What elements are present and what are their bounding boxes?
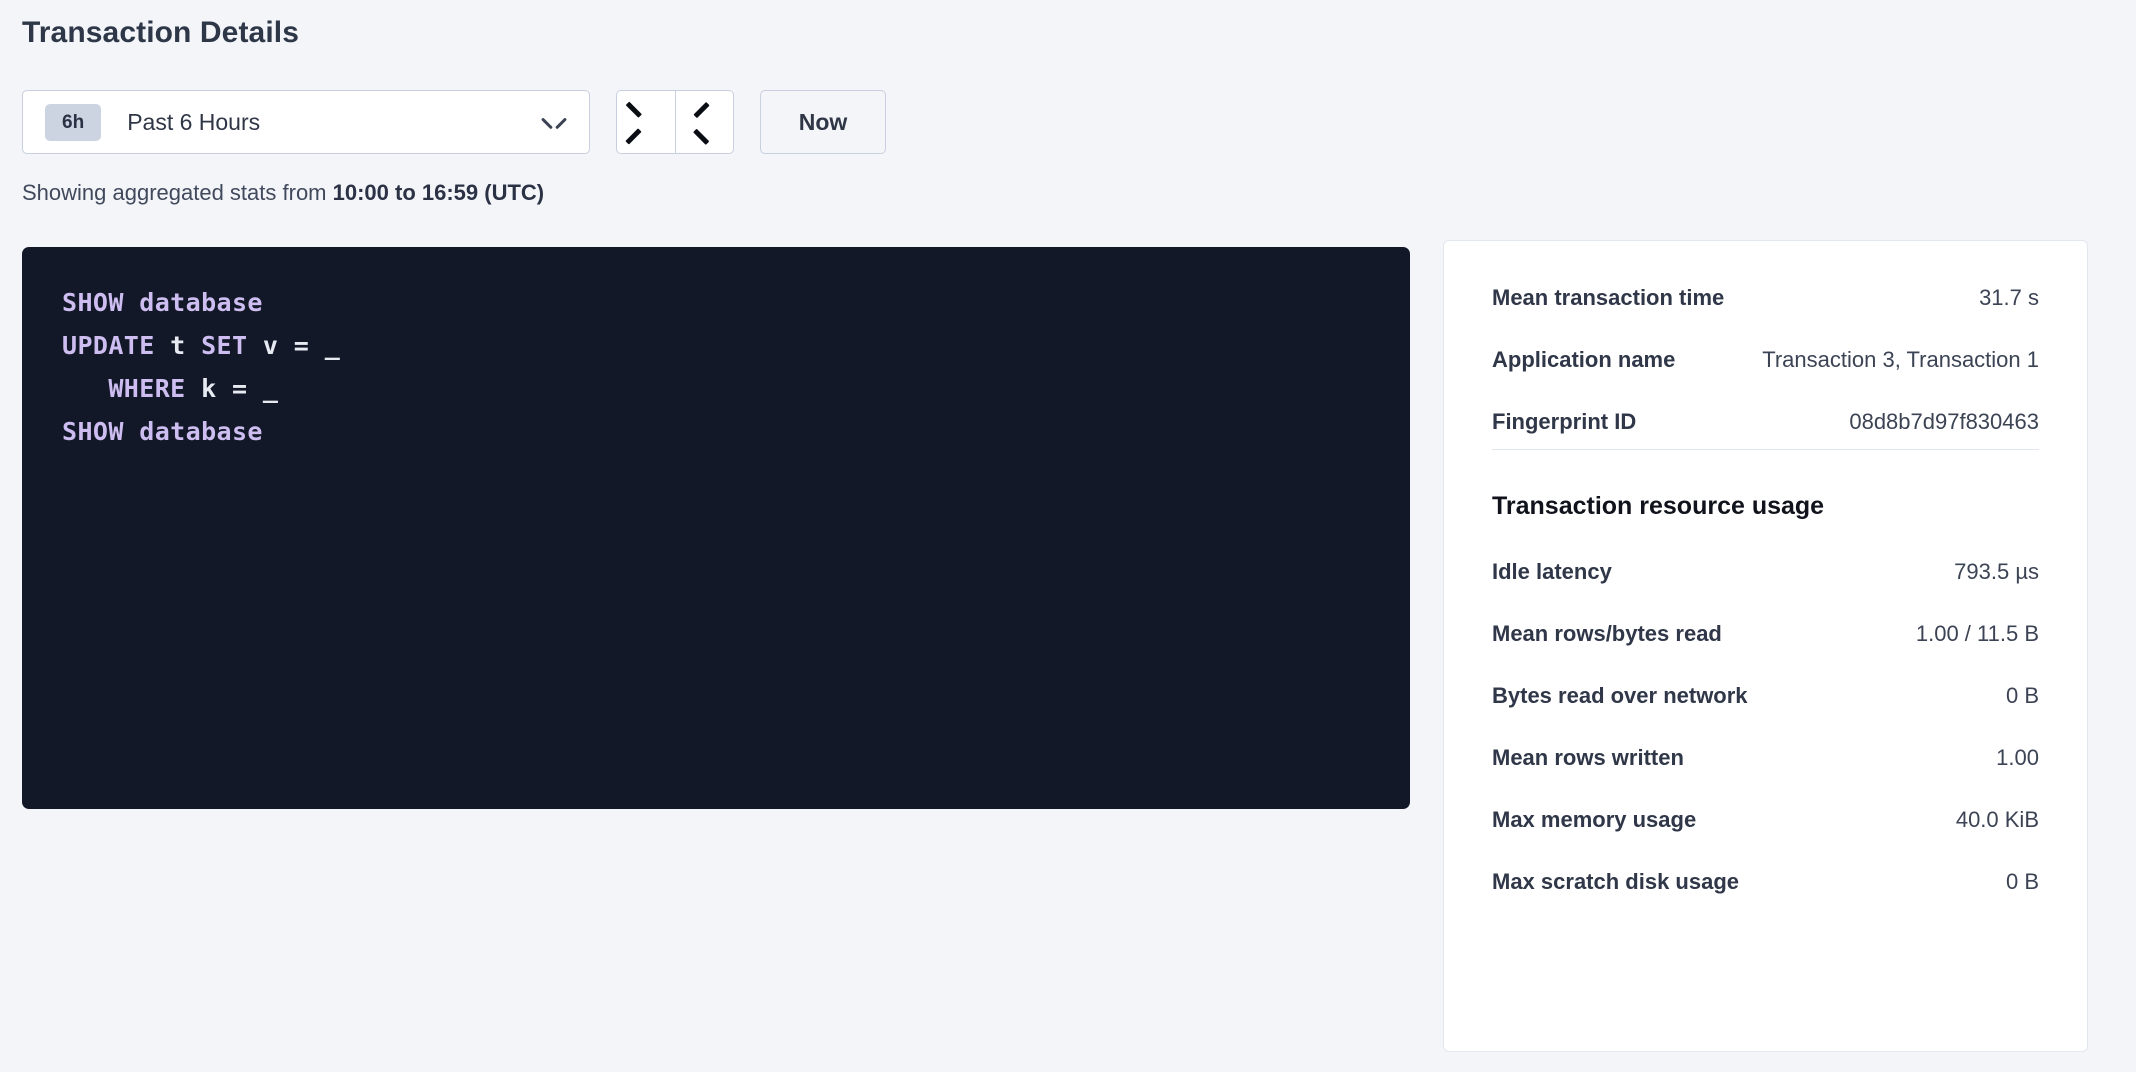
transaction-details-card: Mean transaction time31.7 sApplication n… bbox=[1443, 240, 2088, 1052]
sql-code-body: SHOW databaseUPDATE t SET v = _ WHERE k … bbox=[62, 281, 1370, 453]
time-range-label: Past 6 Hours bbox=[127, 109, 543, 136]
time-range-select[interactable]: 6h Past 6 Hours bbox=[22, 90, 590, 154]
stat-value: 0 B bbox=[2006, 683, 2039, 709]
stat-label: Max scratch disk usage bbox=[1492, 869, 1739, 895]
aggregation-range-text: Showing aggregated stats from 10:00 to 1… bbox=[22, 180, 544, 206]
sql-code-line: SHOW database bbox=[62, 281, 1370, 324]
stat-row: Mean rows written1.00 bbox=[1492, 745, 2039, 771]
stat-row: Max memory usage40.0 KiB bbox=[1492, 807, 2039, 833]
stat-label: Fingerprint ID bbox=[1492, 409, 1636, 435]
sql-code-line: WHERE k = _ bbox=[62, 367, 1370, 410]
stat-value: 31.7 s bbox=[1979, 285, 2039, 311]
stat-row: Mean transaction time31.7 s bbox=[1492, 285, 2039, 311]
stat-value: 1.00 / 11.5 B bbox=[1916, 621, 2039, 647]
sql-keyword: WHERE bbox=[62, 374, 186, 403]
transaction-details-page: Transaction Details 6h Past 6 Hours Now … bbox=[0, 0, 2136, 1072]
stat-label: Application name bbox=[1492, 347, 1675, 373]
stat-value: 40.0 KiB bbox=[1956, 807, 2039, 833]
resource-usage-list: Idle latency793.5 µsMean rows/bytes read… bbox=[1492, 559, 2039, 895]
stat-value: 0 B bbox=[2006, 869, 2039, 895]
sql-keyword: SHOW bbox=[62, 417, 124, 446]
stat-label: Mean transaction time bbox=[1492, 285, 1724, 311]
stat-label: Mean rows/bytes read bbox=[1492, 621, 1722, 647]
sql-keyword: UPDATE bbox=[62, 331, 155, 360]
sql-keyword: SET bbox=[201, 331, 247, 360]
chevron-left-icon bbox=[638, 108, 655, 137]
sql-text: v = _ bbox=[247, 331, 340, 360]
card-divider bbox=[1492, 449, 2039, 450]
next-period-button[interactable] bbox=[675, 90, 734, 154]
previous-period-button[interactable] bbox=[616, 90, 675, 154]
stat-label: Bytes read over network bbox=[1492, 683, 1748, 709]
chevron-down-icon bbox=[543, 116, 565, 129]
stat-value: 08d8b7d97f830463 bbox=[1849, 409, 2039, 435]
stat-row: Fingerprint ID08d8b7d97f830463 bbox=[1492, 409, 2039, 435]
stat-row: Idle latency793.5 µs bbox=[1492, 559, 2039, 585]
sql-code-panel: SHOW databaseUPDATE t SET v = _ WHERE k … bbox=[22, 247, 1410, 809]
stat-value: Transaction 3, Transaction 1 bbox=[1762, 347, 2039, 373]
time-range-badge: 6h bbox=[45, 104, 101, 141]
sql-text: k = _ bbox=[186, 374, 279, 403]
sql-keyword: database bbox=[124, 417, 263, 446]
stat-label: Max memory usage bbox=[1492, 807, 1696, 833]
stat-row: Bytes read over network0 B bbox=[1492, 683, 2039, 709]
resource-usage-heading: Transaction resource usage bbox=[1492, 492, 2039, 521]
stat-row: Application nameTransaction 3, Transacti… bbox=[1492, 347, 2039, 373]
sql-code-line: UPDATE t SET v = _ bbox=[62, 324, 1370, 367]
aggregation-range-value: 10:00 to 16:59 (UTC) bbox=[333, 180, 545, 205]
time-range-controls: 6h Past 6 Hours Now bbox=[22, 90, 886, 154]
stat-value: 793.5 µs bbox=[1954, 559, 2039, 585]
aggregation-range-prefix: Showing aggregated stats from bbox=[22, 180, 333, 205]
now-button[interactable]: Now bbox=[760, 90, 886, 154]
sql-code-line: SHOW database bbox=[62, 410, 1370, 453]
overview-stats-list: Mean transaction time31.7 sApplication n… bbox=[1492, 285, 2039, 435]
stat-row: Mean rows/bytes read1.00 / 11.5 B bbox=[1492, 621, 2039, 647]
sql-keyword: database bbox=[124, 288, 263, 317]
stat-label: Mean rows written bbox=[1492, 745, 1684, 771]
stat-value: 1.00 bbox=[1996, 745, 2039, 771]
chevron-right-icon bbox=[696, 108, 713, 137]
sql-keyword: SHOW bbox=[62, 288, 124, 317]
page-title: Transaction Details bbox=[22, 16, 299, 50]
stat-label: Idle latency bbox=[1492, 559, 1612, 585]
stat-row: Max scratch disk usage0 B bbox=[1492, 869, 2039, 895]
time-nav-group bbox=[616, 90, 734, 154]
sql-text: t bbox=[155, 331, 201, 360]
